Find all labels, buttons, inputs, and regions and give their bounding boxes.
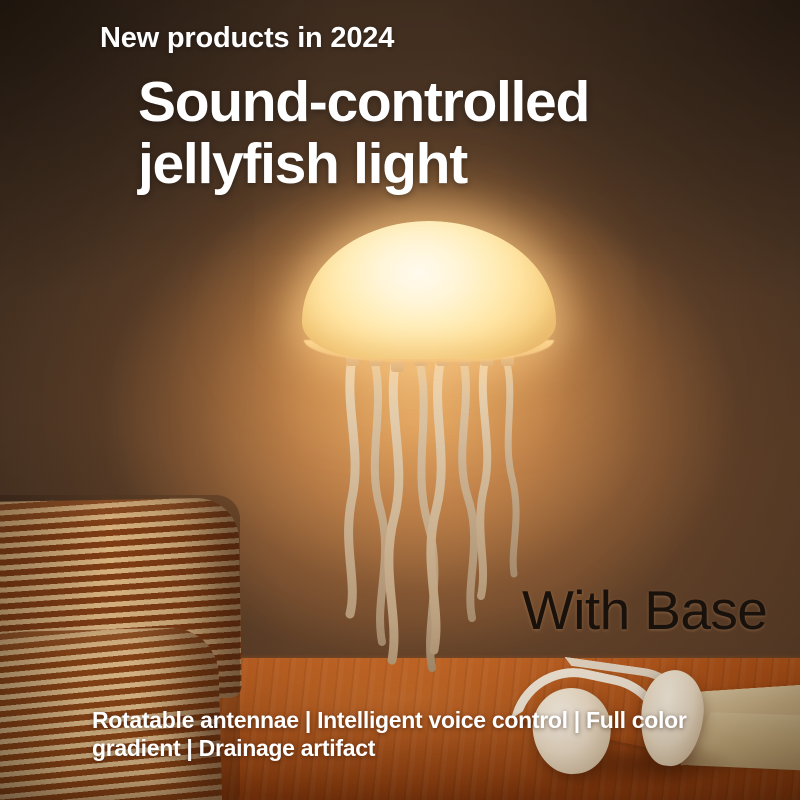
feature-list: Rotatable antennae | Intelligent voice c… — [92, 706, 742, 762]
with-base-badge: With Base — [522, 578, 767, 642]
product-banner: New products in 2024 Sound-controlled je… — [0, 0, 800, 800]
eyebrow-text: New products in 2024 — [100, 22, 394, 55]
headline-line-2: jellyfish light — [138, 134, 589, 196]
headline-line-1: Sound-controlled — [138, 72, 589, 134]
page-title: Sound-controlled jellyfish light — [138, 72, 589, 195]
